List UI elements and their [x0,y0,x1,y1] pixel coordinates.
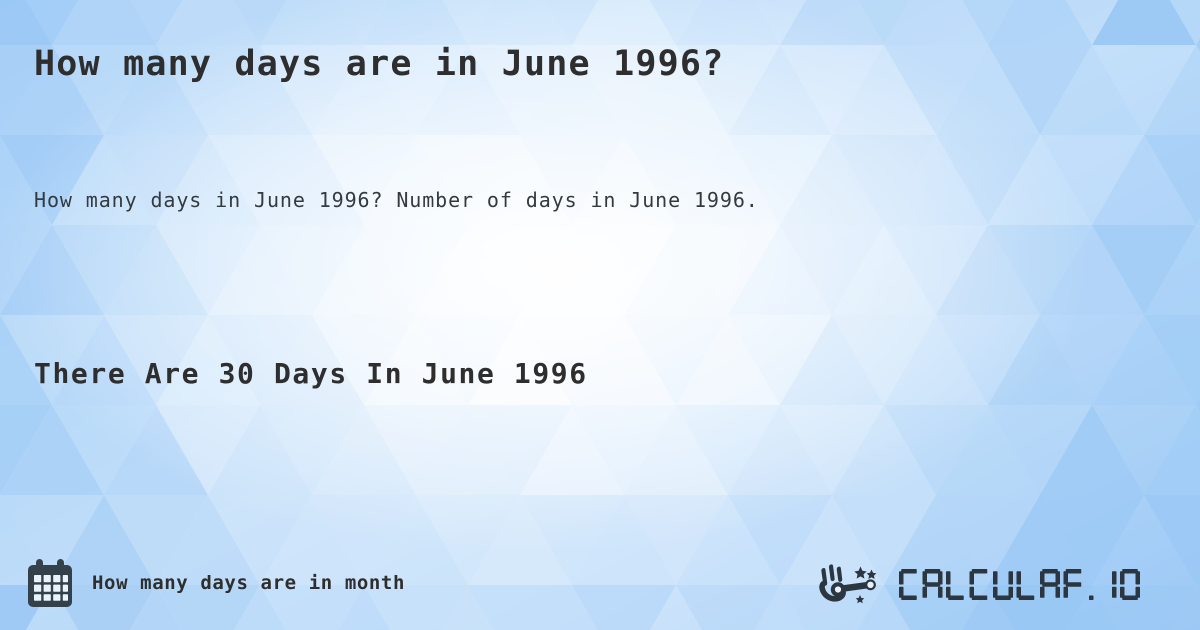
brand-wordmark [898,564,1178,606]
page-title: How many days are in June 1996? [34,44,724,84]
footer-link-label: How many days are in month [92,572,405,594]
page-content: How many days are in June 1996? How many… [0,0,1200,630]
hand-magic-wand-icon [818,562,890,608]
calendar-icon [26,558,74,608]
footer-link-how-many-days-in-month[interactable]: How many days are in month [26,558,405,608]
answer-statement: There Are 30 Days In June 1996 [34,357,588,390]
footer: How many days are in month [0,538,1200,630]
page-subtitle: How many days in June 1996? Number of da… [34,188,759,212]
brand-logo[interactable] [818,562,1178,608]
